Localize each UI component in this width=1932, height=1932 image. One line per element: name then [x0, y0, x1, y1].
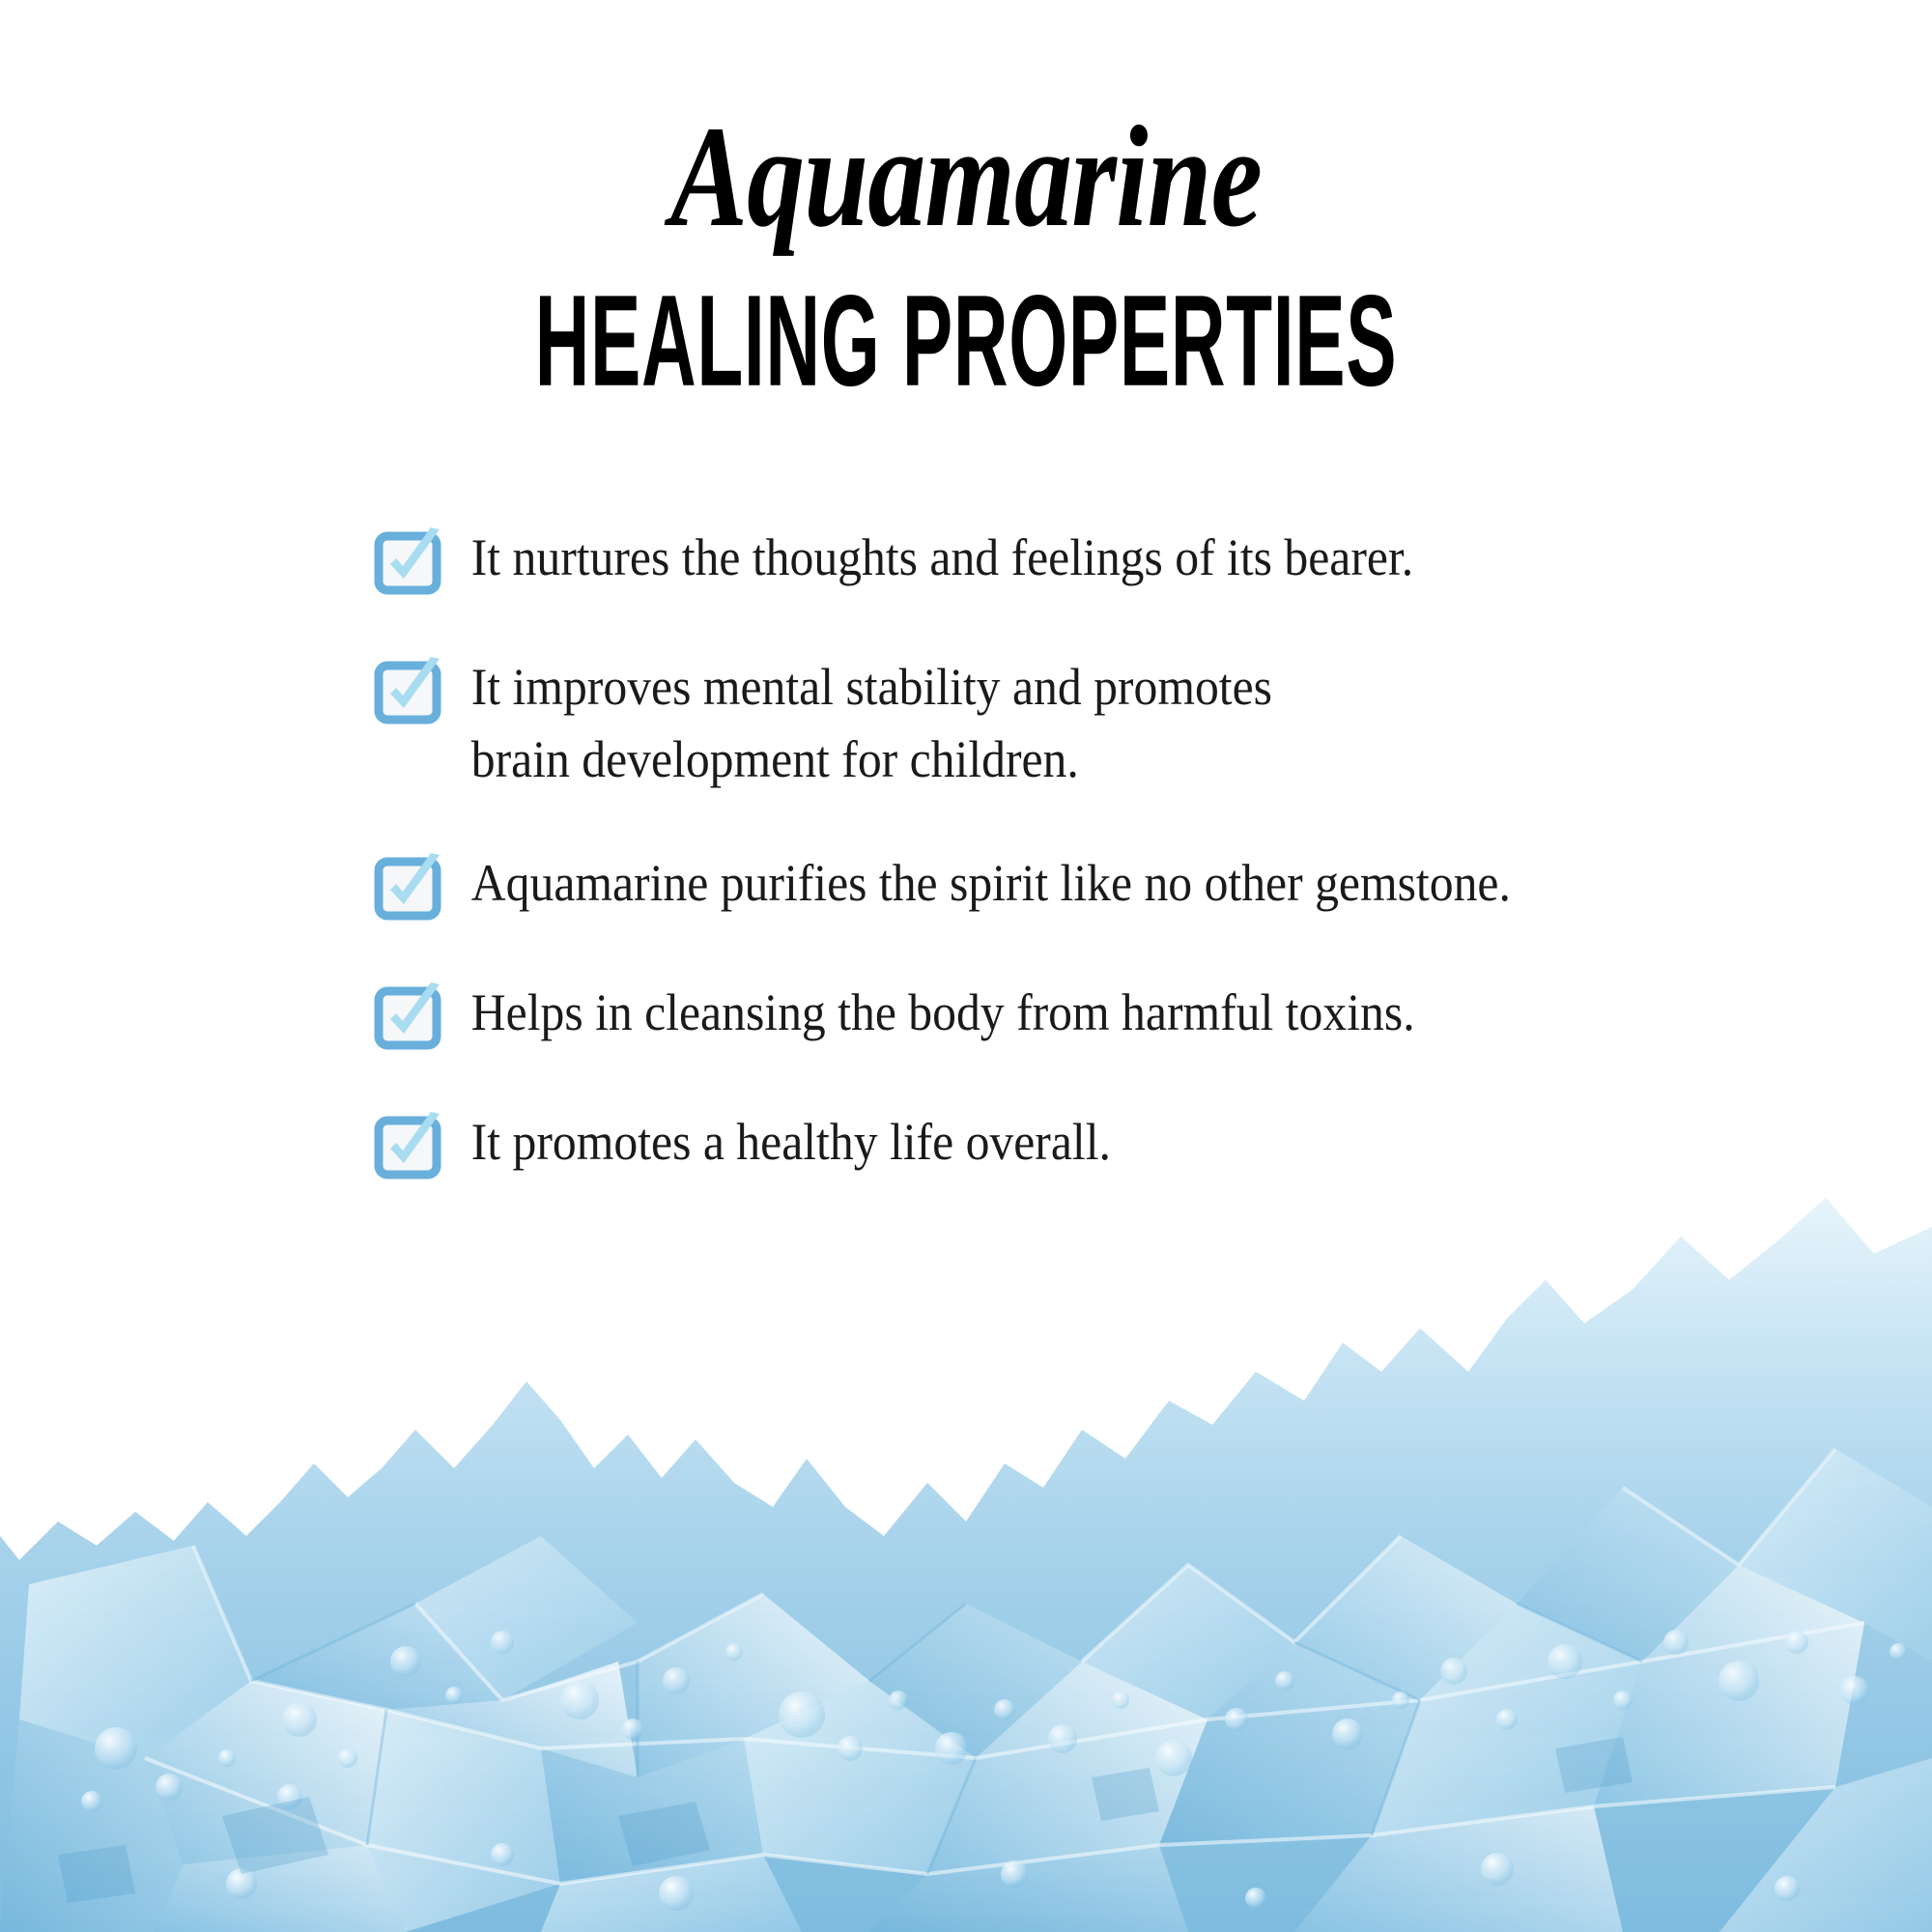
checked-checkbox-icon [375, 657, 446, 728]
list-item: It promotes a healthy life overall. [375, 1106, 1882, 1183]
page-title-script: Aquamarine [193, 104, 1739, 249]
list-item: Helps in cleansing the body from harmful… [375, 977, 1882, 1054]
list-item: It improves mental stability and promote… [375, 651, 1882, 795]
page-subtitle: HEALING PROPERTIES [290, 276, 1642, 406]
list-item-text: It nurtures the thoughts and feelings of… [446, 522, 1767, 594]
checked-checkbox-icon [375, 527, 446, 599]
list-item: It nurtures the thoughts and feelings of… [375, 522, 1882, 599]
checked-checkbox-icon [375, 982, 446, 1054]
heading-block: Aquamarine HEALING PROPERTIES [0, 104, 1932, 384]
aquamarine-healing-properties-poster: Aquamarine HEALING PROPERTIES It nurture… [0, 0, 1932, 1932]
list-item-text: Aquamarine purifies the spirit like no o… [446, 847, 1767, 920]
list-item-text: It improves mental stability and promote… [446, 651, 1767, 795]
list-item-text: Helps in cleansing the body from harmful… [446, 977, 1767, 1049]
ice-cubes-photo [0, 1082, 1932, 1932]
list-item: Aquamarine purifies the spirit like no o… [375, 847, 1882, 924]
checked-checkbox-icon [375, 1112, 446, 1183]
healing-properties-list: It nurtures the thoughts and feelings of… [375, 522, 1882, 1183]
checked-checkbox-icon [375, 853, 446, 924]
list-item-text: It promotes a healthy life overall. [446, 1106, 1767, 1179]
